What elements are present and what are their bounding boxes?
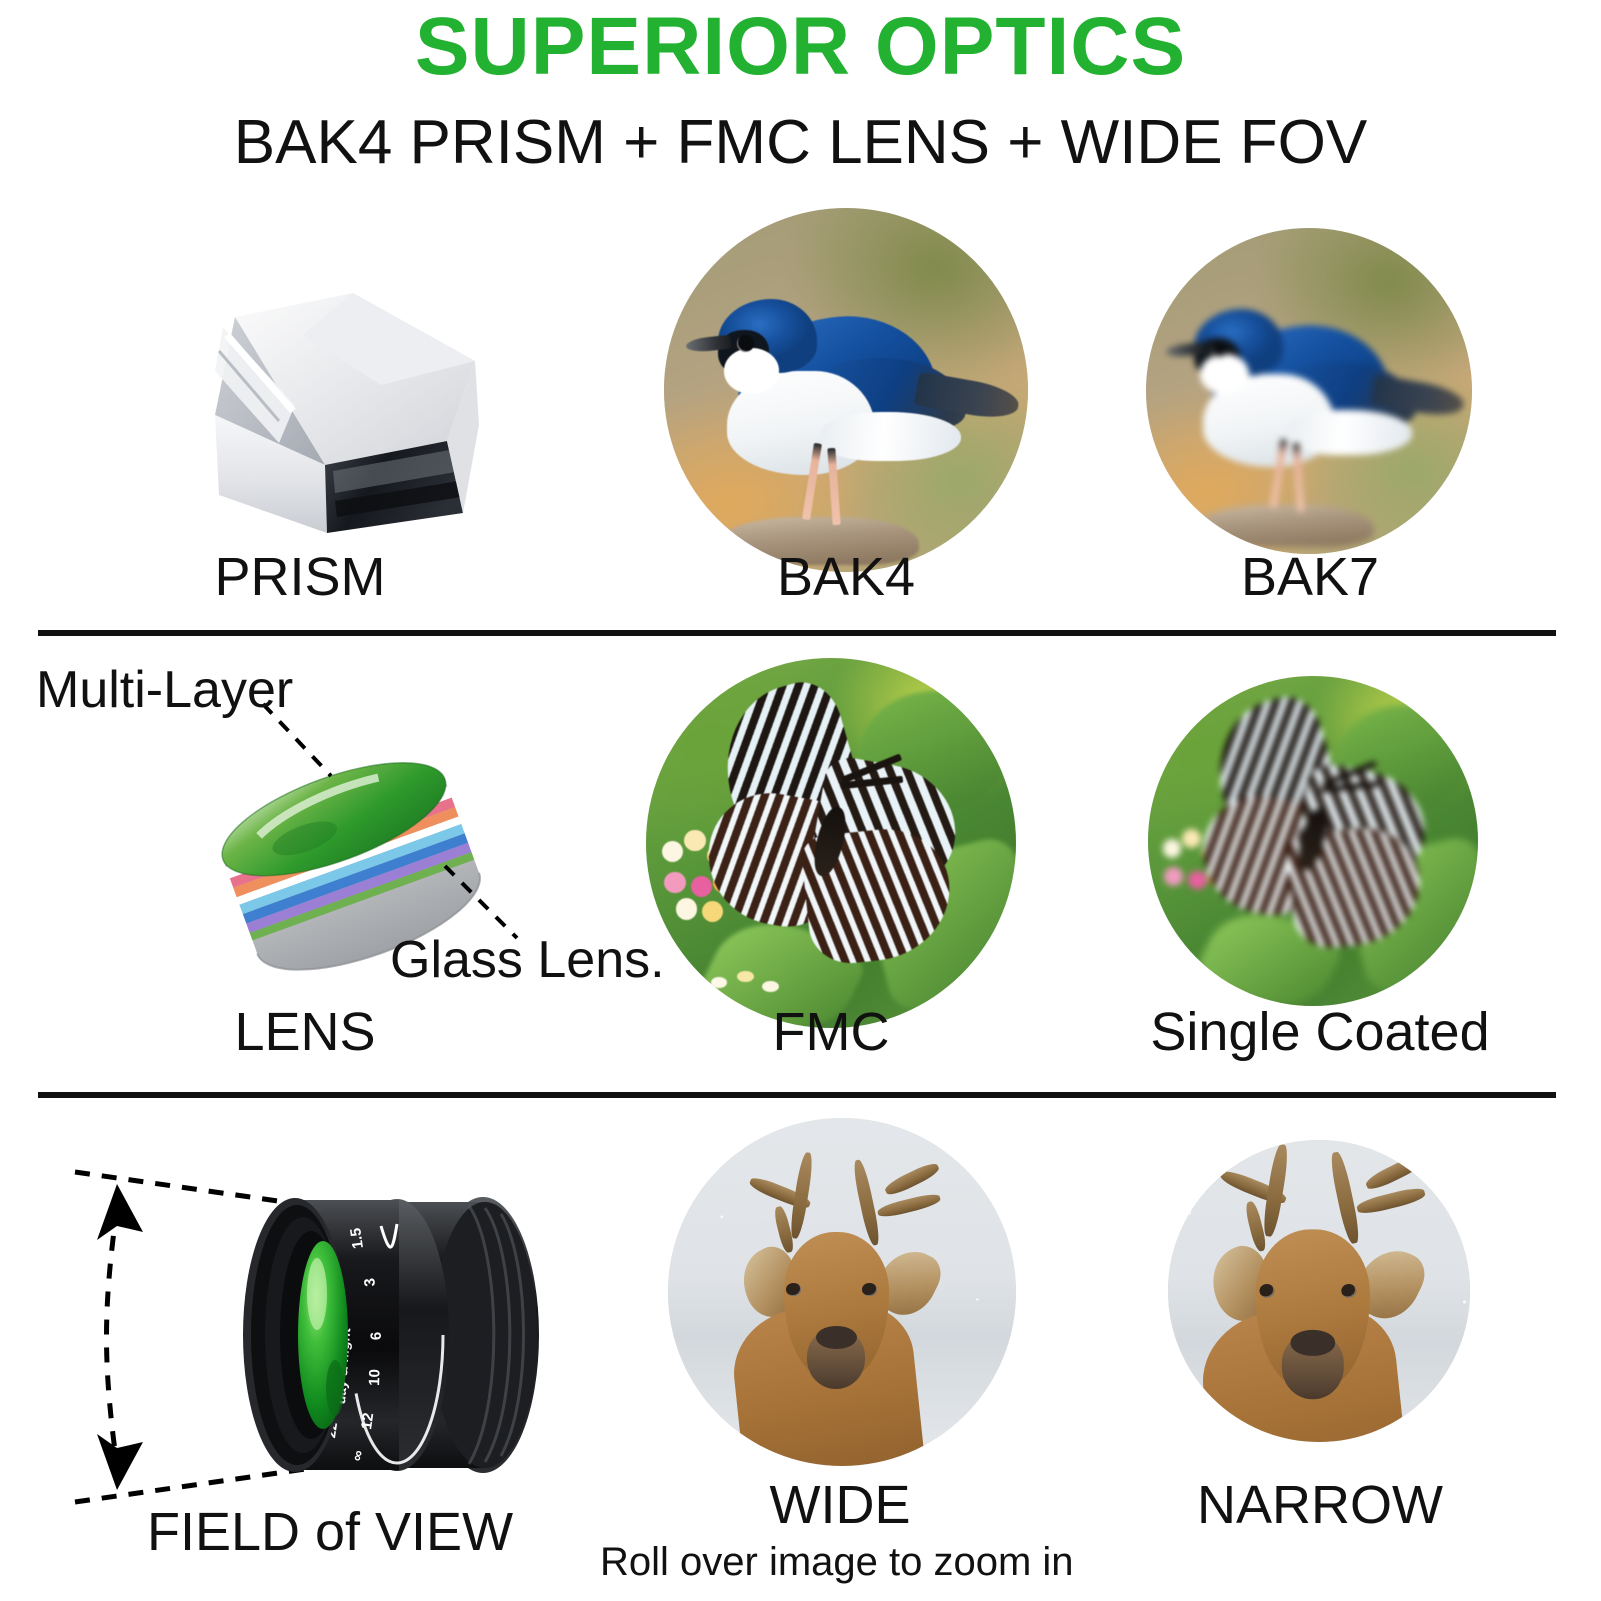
photo-bak4 xyxy=(664,208,1028,572)
roof-prism-illustration xyxy=(175,265,505,555)
annotation-glass-lens: Glass Lens. xyxy=(390,930,665,990)
photo-fmc xyxy=(646,658,1016,1028)
barrel-mark-10: 10 xyxy=(366,1369,384,1386)
caption-bak7: BAK7 xyxy=(1110,550,1510,604)
barrel-mark-1_5: 1.5 xyxy=(347,1227,367,1250)
caption-narrow: NARROW xyxy=(1110,1478,1530,1532)
infographic-root: SUPERIOR OPTICS BAK4 PRISM + FMC LENS + … xyxy=(0,0,1601,1601)
caption-lens: LENS xyxy=(95,1005,515,1059)
barrel-mark-3: 3 xyxy=(361,1277,379,1287)
photo-wide xyxy=(668,1118,1016,1466)
caption-bak4: BAK4 xyxy=(646,550,1046,604)
rollover-zoom-hint: Roll over image to zoom in xyxy=(600,1540,1070,1585)
caption-wide: WIDE xyxy=(645,1478,1035,1532)
barrel-mark-6: 6 xyxy=(368,1332,385,1341)
page-subtitle: BAK4 PRISM + FMC LENS + WIDE FOV xyxy=(0,112,1601,174)
caption-prism: PRISM xyxy=(90,550,510,604)
photo-single-coated xyxy=(1148,676,1478,1006)
caption-single-coated: Single Coated xyxy=(1090,1005,1550,1059)
photo-bak7 xyxy=(1146,228,1472,554)
caption-field-of-view: FIELD of VIEW xyxy=(70,1505,590,1559)
barrel-mark-12: 12 xyxy=(358,1412,377,1431)
row-divider-1 xyxy=(38,630,1556,636)
objective-lens-fov-illustration: 1.5 3 6 10 12 ∞ Field day & night 22° xyxy=(55,1150,625,1520)
caption-fmc: FMC xyxy=(636,1005,1026,1059)
photo-narrow xyxy=(1168,1140,1470,1442)
row-divider-2 xyxy=(38,1092,1556,1098)
page-title: SUPERIOR OPTICS xyxy=(0,6,1601,88)
annotation-multi-layer: Multi-Layer xyxy=(36,660,293,720)
